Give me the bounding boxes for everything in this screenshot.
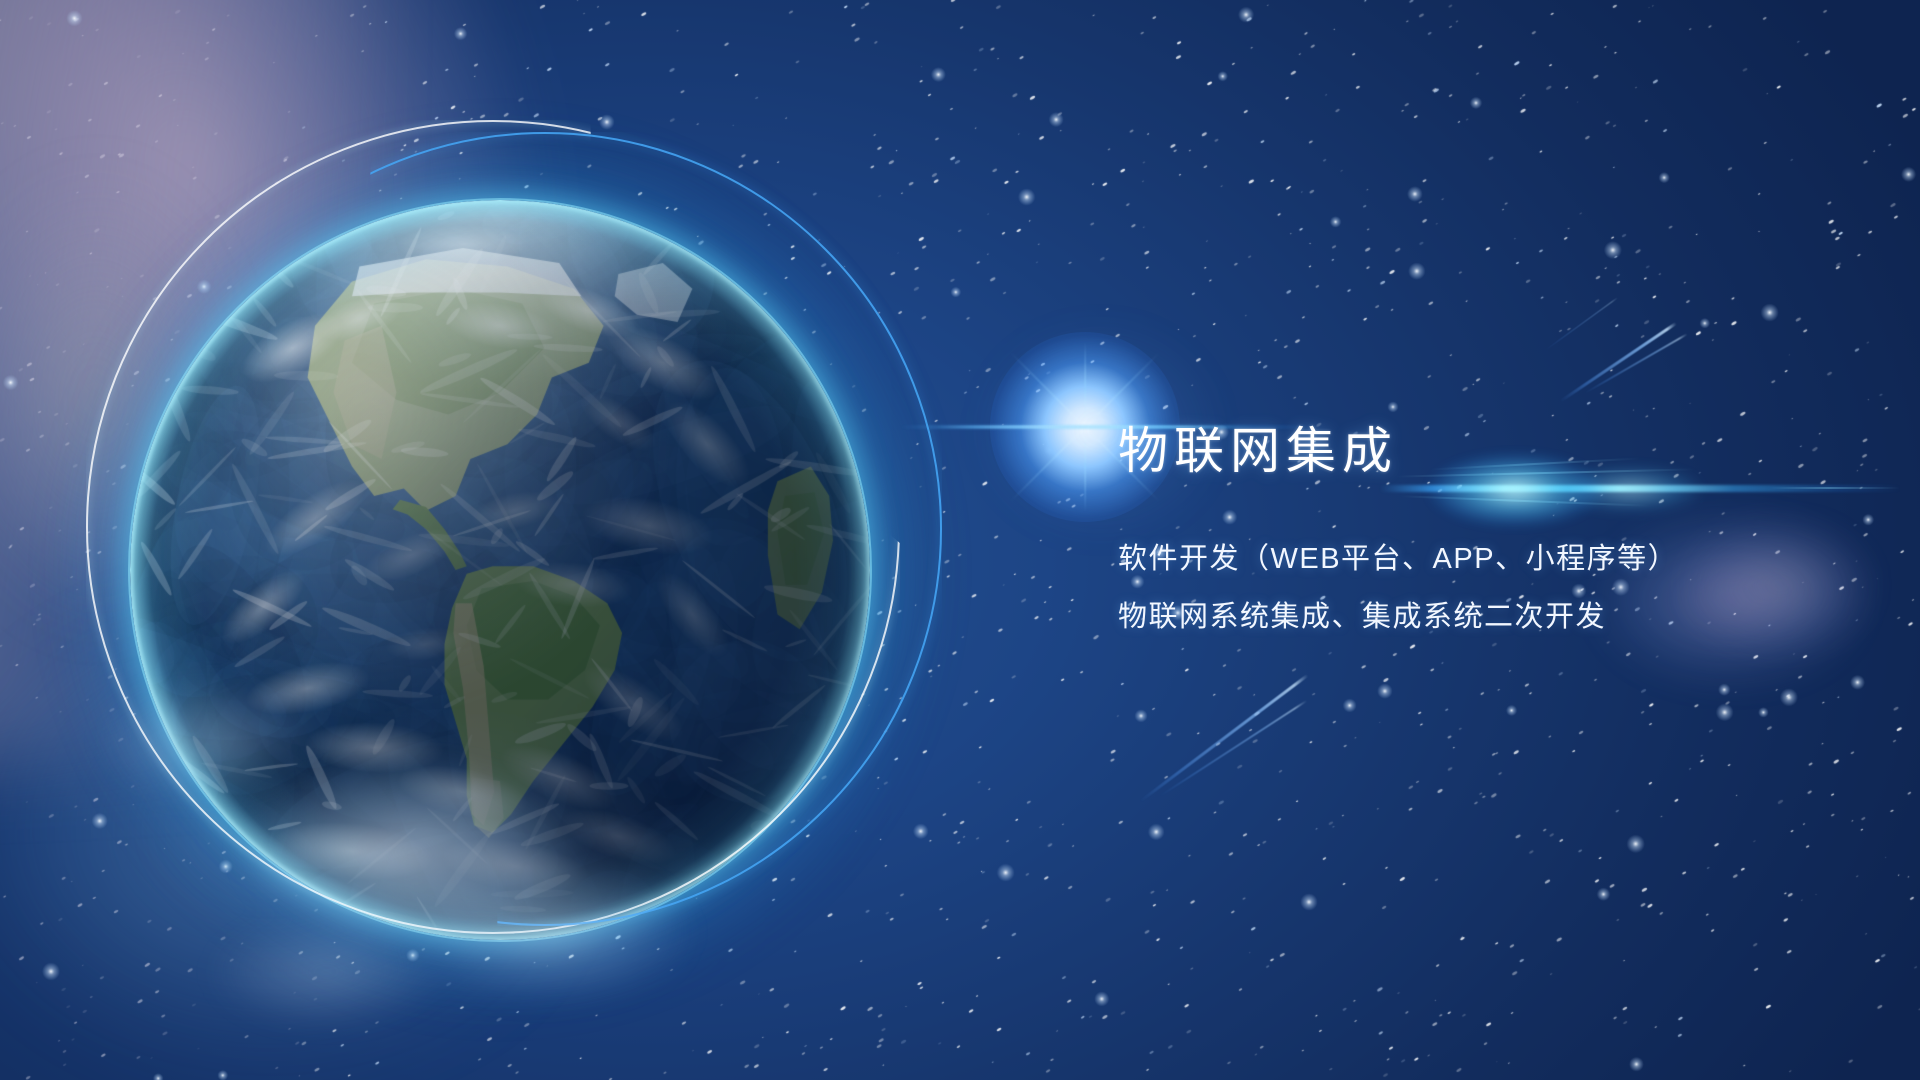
page-title: 物联网集成 bbox=[1118, 420, 1838, 482]
subtitle-line-1: 软件开发（WEB平台、APP、小程序等） bbox=[1118, 530, 1838, 588]
cloud-mist bbox=[140, 700, 760, 1080]
banner-root: 物联网集成 软件开发（WEB平台、APP、小程序等） 物联网系统集成、集成系统二… bbox=[0, 0, 1920, 1080]
text-block: 物联网集成 软件开发（WEB平台、APP、小程序等） 物联网系统集成、集成系统二… bbox=[1118, 420, 1838, 646]
subtitle-line-2: 物联网系统集成、集成系统二次开发 bbox=[1118, 588, 1838, 646]
